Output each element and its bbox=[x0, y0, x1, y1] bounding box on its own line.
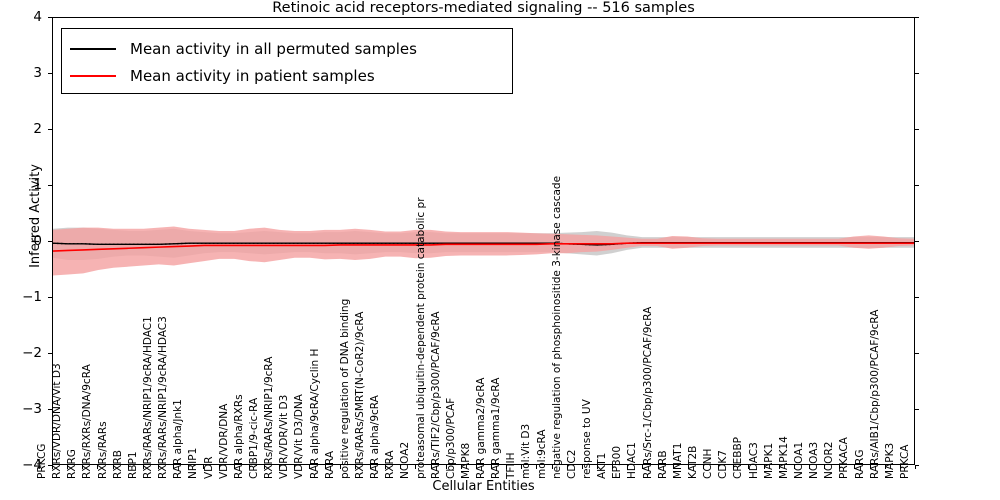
legend-line-swatch-patient bbox=[70, 75, 116, 77]
x-tick-mark bbox=[143, 465, 144, 469]
x-tick-mark bbox=[355, 465, 356, 469]
x-tick-mark bbox=[234, 465, 235, 469]
x-tick-mark bbox=[824, 465, 825, 469]
y-tick-mark bbox=[915, 241, 919, 242]
y-tick-mark bbox=[915, 73, 919, 74]
x-tick-mark bbox=[718, 465, 719, 469]
x-tick-mark bbox=[415, 465, 416, 469]
plot-area: Mean activity in all permuted samples Me… bbox=[52, 17, 915, 465]
y-tick-label: 1 bbox=[2, 178, 42, 192]
x-tick-mark bbox=[128, 465, 129, 469]
x-tick-mark bbox=[113, 465, 114, 469]
x-tick-mark bbox=[385, 465, 386, 469]
x-tick-mark bbox=[491, 465, 492, 469]
x-tick-mark bbox=[264, 465, 265, 469]
x-tick-mark bbox=[521, 465, 522, 469]
y-tick-mark bbox=[915, 353, 919, 354]
x-tick-mark bbox=[158, 465, 159, 469]
legend-line-swatch-permuted bbox=[70, 48, 116, 50]
x-tick-mark bbox=[582, 465, 583, 469]
legend: Mean activity in all permuted samples Me… bbox=[61, 28, 513, 94]
y-tick-mark bbox=[915, 297, 919, 298]
legend-label-patient: Mean activity in patient samples bbox=[130, 67, 375, 85]
x-tick-mark bbox=[794, 465, 795, 469]
x-tick-mark bbox=[748, 465, 749, 469]
x-tick-mark bbox=[294, 465, 295, 469]
y-tick-mark bbox=[915, 129, 919, 130]
x-tick-mark bbox=[688, 465, 689, 469]
x-tick-mark bbox=[476, 465, 477, 469]
x-tick-mark bbox=[764, 465, 765, 469]
x-tick-mark bbox=[173, 465, 174, 469]
x-tick-mark bbox=[900, 465, 901, 469]
y-tick-mark bbox=[915, 409, 919, 410]
x-tick-mark bbox=[673, 465, 674, 469]
x-tick-mark bbox=[82, 465, 83, 469]
y-tick-label: 3 bbox=[2, 66, 42, 80]
y-tick-label: 0 bbox=[2, 234, 42, 248]
x-tick-mark bbox=[839, 465, 840, 469]
x-tick-mark bbox=[67, 465, 68, 469]
x-tick-mark bbox=[370, 465, 371, 469]
x-tick-mark bbox=[52, 465, 53, 469]
x-tick-mark bbox=[431, 465, 432, 469]
x-tick-mark bbox=[340, 465, 341, 469]
x-tick-mark bbox=[446, 465, 447, 469]
x-tick-mark bbox=[885, 465, 886, 469]
x-tick-mark bbox=[642, 465, 643, 469]
y-tick-mark bbox=[915, 17, 919, 18]
x-tick-mark bbox=[809, 465, 810, 469]
y-tick-mark bbox=[48, 465, 52, 466]
legend-item-patient: Mean activity in patient samples bbox=[70, 62, 502, 89]
confidence-band bbox=[53, 227, 914, 276]
x-tick-mark bbox=[97, 465, 98, 469]
x-tick-mark bbox=[597, 465, 598, 469]
x-tick-mark bbox=[733, 465, 734, 469]
x-tick-mark bbox=[309, 465, 310, 469]
x-tick-mark bbox=[703, 465, 704, 469]
y-tick-mark bbox=[915, 465, 919, 466]
y-tick-label: 2 bbox=[2, 122, 42, 136]
x-axis-label: Cellular Entities bbox=[52, 478, 915, 496]
x-tick-mark bbox=[506, 465, 507, 469]
y-tick-label: −2 bbox=[2, 346, 42, 360]
x-tick-mark bbox=[658, 465, 659, 469]
x-tick-mark bbox=[219, 465, 220, 469]
x-tick-mark bbox=[627, 465, 628, 469]
x-tick-mark bbox=[536, 465, 537, 469]
y-tick-label: −3 bbox=[2, 402, 42, 416]
x-tick-mark bbox=[552, 465, 553, 469]
x-tick-mark bbox=[188, 465, 189, 469]
x-tick-mark bbox=[400, 465, 401, 469]
chart-title: Retinoic acid receptors-mediated signali… bbox=[52, 0, 915, 17]
x-tick-mark bbox=[203, 465, 204, 469]
x-tick-mark bbox=[567, 465, 568, 469]
x-tick-mark bbox=[870, 465, 871, 469]
y-tick-mark bbox=[915, 185, 919, 186]
legend-label-permuted: Mean activity in all permuted samples bbox=[130, 40, 417, 58]
x-tick-mark bbox=[325, 465, 326, 469]
legend-item-permuted: Mean activity in all permuted samples bbox=[70, 35, 502, 62]
x-tick-mark bbox=[854, 465, 855, 469]
y-tick-label: −4 bbox=[2, 458, 42, 472]
y-tick-label: 4 bbox=[2, 10, 42, 24]
chart-page: Retinoic acid receptors-mediated signali… bbox=[0, 0, 1000, 500]
x-tick-mark bbox=[779, 465, 780, 469]
y-tick-label: −1 bbox=[2, 290, 42, 304]
x-tick-mark bbox=[279, 465, 280, 469]
x-tick-mark bbox=[249, 465, 250, 469]
x-tick-mark bbox=[461, 465, 462, 469]
x-tick-mark bbox=[612, 465, 613, 469]
